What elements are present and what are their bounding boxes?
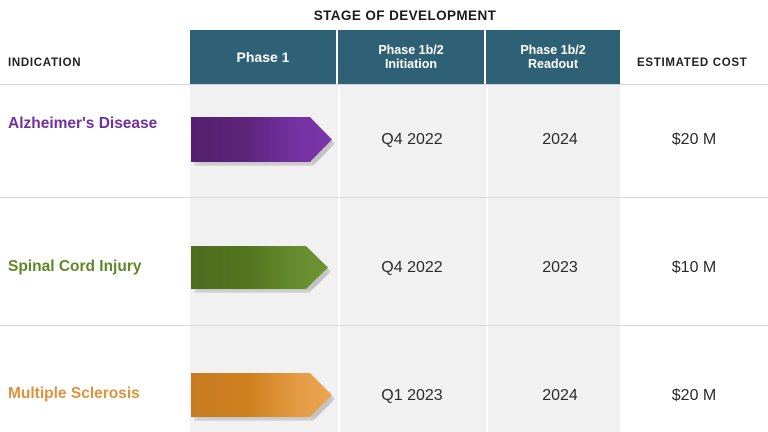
indication-label-1: Spinal Cord Injury [8, 257, 186, 277]
column-header-phase-1b2-readout: Phase 1b/2 Readout [486, 30, 620, 84]
cell-readout-2: 2024 [486, 381, 634, 411]
progress-bar-fill [191, 373, 332, 417]
column-header-init-line1: Phase 1b/2 [378, 43, 443, 57]
cell-initiation-0: Q4 2022 [338, 125, 486, 155]
progress-bar-fill [191, 246, 328, 289]
cell-cost-1: $10 M [620, 253, 768, 283]
column-header-readout-line2: Readout [520, 57, 585, 71]
chart-title: STAGE OF DEVELOPMENT [190, 8, 620, 23]
column-header-phase-1-label: Phase 1 [237, 49, 290, 65]
column-header-init-line2: Initiation [378, 57, 443, 71]
column-header-readout-line1: Phase 1b/2 [520, 43, 585, 57]
row-divider-1 [0, 197, 768, 198]
header-divider [0, 84, 768, 85]
indication-label-0: Alzheimer's Disease [8, 114, 186, 134]
cell-readout-0: 2024 [486, 125, 634, 155]
phase-1-progress-bar-0 [191, 117, 332, 162]
phase-1-progress-bar-1 [191, 246, 328, 289]
cell-initiation-1: Q4 2022 [338, 253, 486, 283]
pipeline-chart: STAGE OF DEVELOPMENT Phase 1 Phase 1b/2 … [0, 0, 768, 432]
cell-readout-1: 2023 [486, 253, 634, 283]
cell-cost-2: $20 M [620, 381, 768, 411]
column-header-estimated-cost: ESTIMATED COST [637, 57, 748, 69]
phase-1-progress-bar-2 [191, 373, 332, 417]
cell-cost-0: $20 M [620, 125, 768, 155]
row-divider-2 [0, 325, 768, 326]
cell-initiation-2: Q1 2023 [338, 381, 486, 411]
indication-label-2: Multiple Sclerosis [8, 384, 186, 404]
column-header-phase-1: Phase 1 [190, 30, 338, 84]
progress-bar-fill [191, 117, 332, 162]
column-header-phase-1b2-initiation: Phase 1b/2 Initiation [338, 30, 486, 84]
column-header-indication: INDICATION [8, 57, 81, 69]
